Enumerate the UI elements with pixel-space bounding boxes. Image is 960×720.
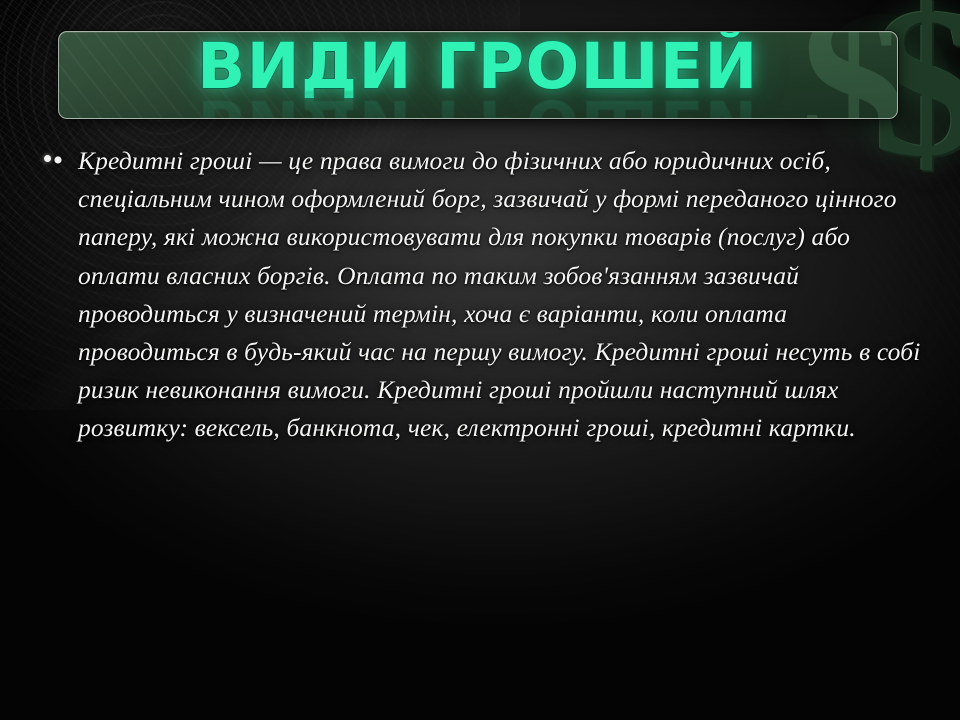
page-title: ВИДИ ГРОШЕЙ	[197, 33, 758, 101]
bullet-point-marker: •	[38, 142, 78, 448]
title-plate: $ ВИДИ ГРОШЕЙ ВИДИ ГРОШЕЙ	[58, 31, 898, 119]
title-stack: ВИДИ ГРОШЕЙ ВИДИ ГРОШЕЙ	[59, 33, 897, 119]
plate-sheen	[59, 32, 897, 118]
page-title-reflection: ВИДИ ГРОШЕЙ	[197, 88, 758, 119]
body-paragraph: Кредитні гроші — це права вимоги до фізи…	[78, 142, 922, 448]
dollar-sign-icon-ghost: $	[800, 31, 899, 119]
slide: $ $ ВИДИ ГРОШЕЙ ВИДИ ГРОШЕЙ • Кредитні г…	[0, 0, 960, 720]
body-bullet-list: • Кредитні гроші — це права вимоги до фі…	[38, 142, 922, 448]
